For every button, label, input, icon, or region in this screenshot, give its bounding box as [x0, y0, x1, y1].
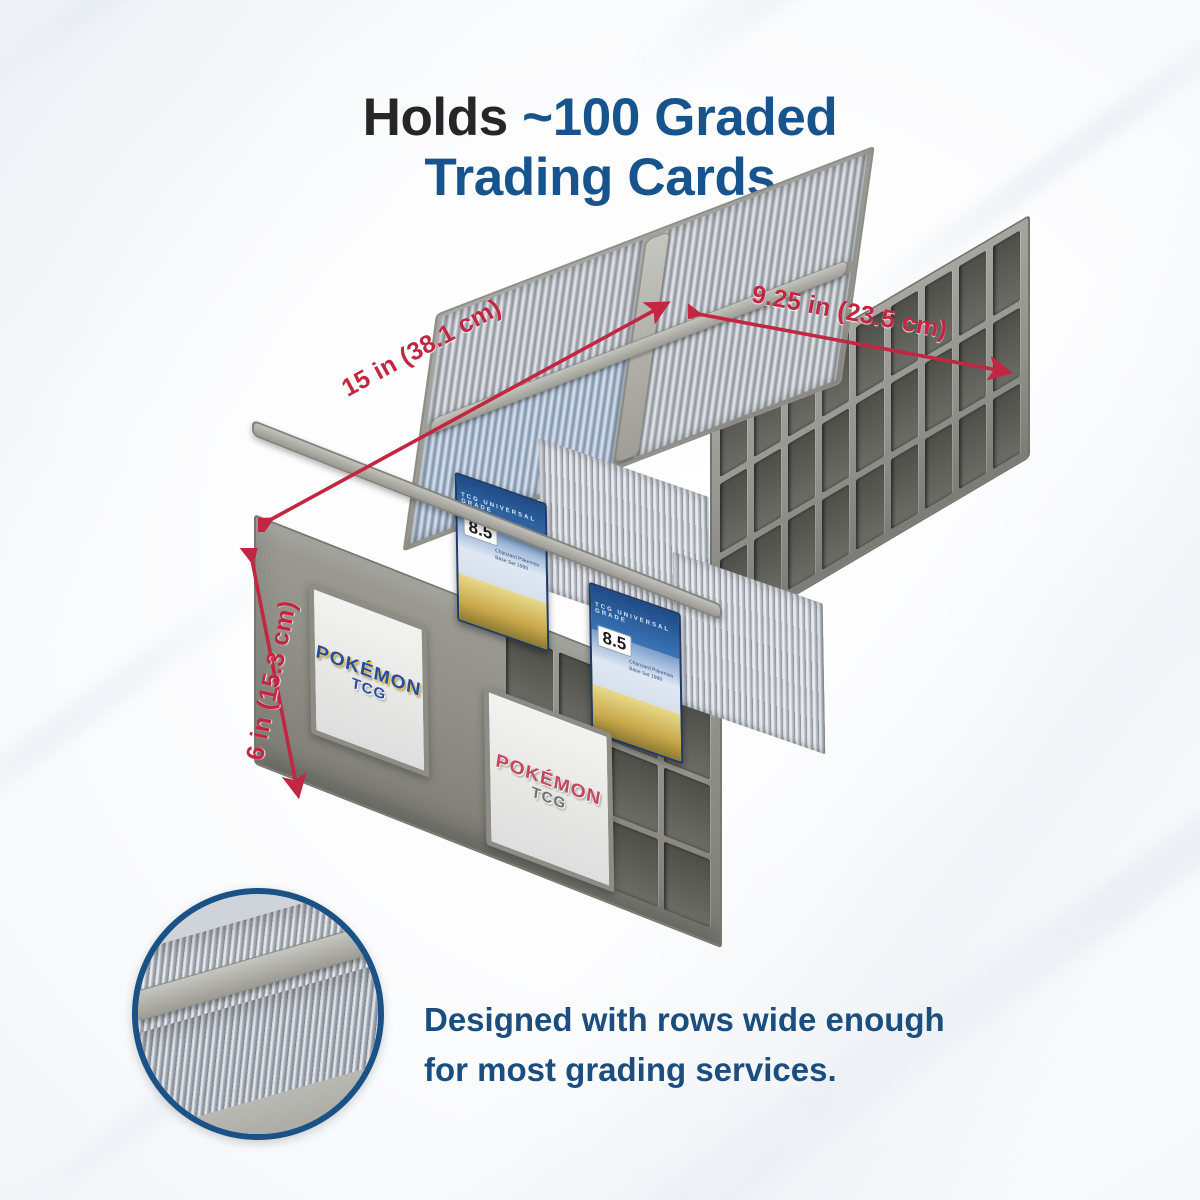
caption: Designed with rows wide enough for most …: [424, 995, 1064, 1094]
headline-holds: Holds: [363, 88, 508, 147]
vent-slot: [959, 404, 986, 490]
vent-slot: [993, 384, 1020, 470]
vent-slot: [891, 444, 918, 530]
slab-card-info: Charizard Pokemon Base Set 1999: [629, 659, 675, 688]
vent-slot: [611, 747, 658, 833]
vent-slot: [788, 428, 815, 514]
headline-line-2: Trading Cards: [0, 148, 1200, 208]
vent-slot: [856, 464, 883, 550]
headline-capacity: ~100 Graded: [522, 88, 837, 147]
vent-slot: [611, 821, 658, 907]
dimension-width: 9.25 in (23.5 cm): [688, 272, 1018, 380]
vent-slot: [664, 841, 711, 927]
dimension-length: 15 in (38.1 cm): [258, 292, 678, 532]
closeup-photo: [132, 888, 384, 1140]
vent-slot: [925, 424, 952, 510]
vent-slot: [822, 484, 849, 570]
vent-slot: [822, 408, 849, 494]
vent-slot: [754, 448, 781, 534]
slab-card-info: Charizard Pokemon Base Set 1999: [495, 548, 541, 577]
vent-slot: [720, 468, 747, 554]
closeup-detail-circle: [132, 888, 384, 1140]
headline-line-1: Holds ~100 Graded: [0, 88, 1200, 148]
caption-line-2: for most grading services.: [424, 1045, 1064, 1095]
pokemon-tcg-logo: POKÉMON TCG: [496, 751, 602, 827]
headline: Holds ~100 Graded Trading Cards: [0, 88, 1200, 209]
vent-slot: [788, 504, 815, 590]
caption-line-1: Designed with rows wide enough: [424, 995, 1064, 1045]
pokemon-tcg-logo: POKÉMON TCG: [316, 642, 422, 718]
vent-slot: [856, 387, 883, 473]
dimension-height: 6 in (15.3 cm): [228, 548, 318, 806]
vent-slot: [891, 367, 918, 453]
infographic-canvas: Holds ~100 Graded Trading Cards: [0, 0, 1200, 1200]
vent-slot: [664, 767, 711, 853]
